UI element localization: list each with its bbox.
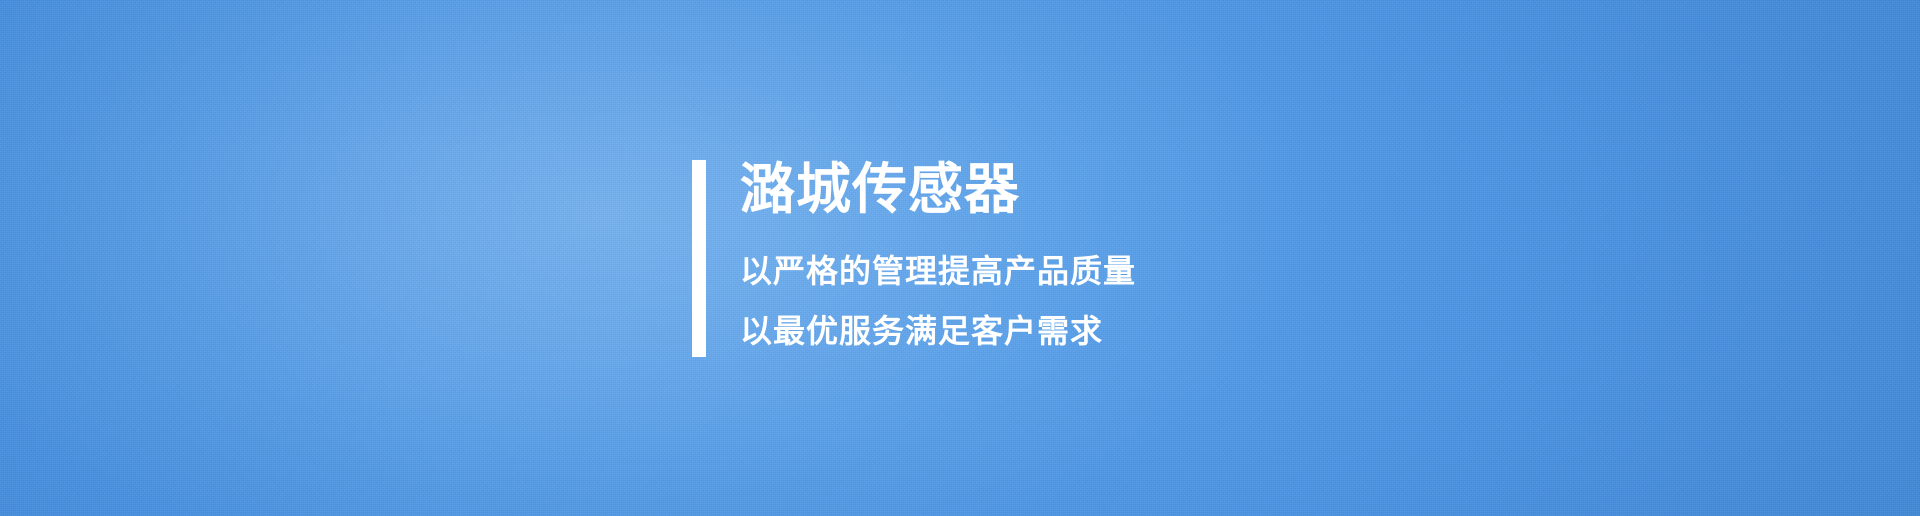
hero-banner: 潞城传感器 以严格的管理提高产品质量 以最优服务满足客户需求 xyxy=(0,0,1920,516)
vertical-accent-bar xyxy=(692,160,706,357)
hero-content: 潞城传感器 以严格的管理提高产品质量 以最优服务满足客户需求 xyxy=(692,160,1136,357)
banner-title: 潞城传感器 xyxy=(740,160,1136,218)
hero-text-block: 潞城传感器 以严格的管理提高产品质量 以最优服务满足客户需求 xyxy=(740,160,1136,350)
banner-subtitle-line-2: 以最优服务满足客户需求 xyxy=(740,312,1136,350)
banner-subtitle-line-1: 以严格的管理提高产品质量 xyxy=(740,252,1136,290)
